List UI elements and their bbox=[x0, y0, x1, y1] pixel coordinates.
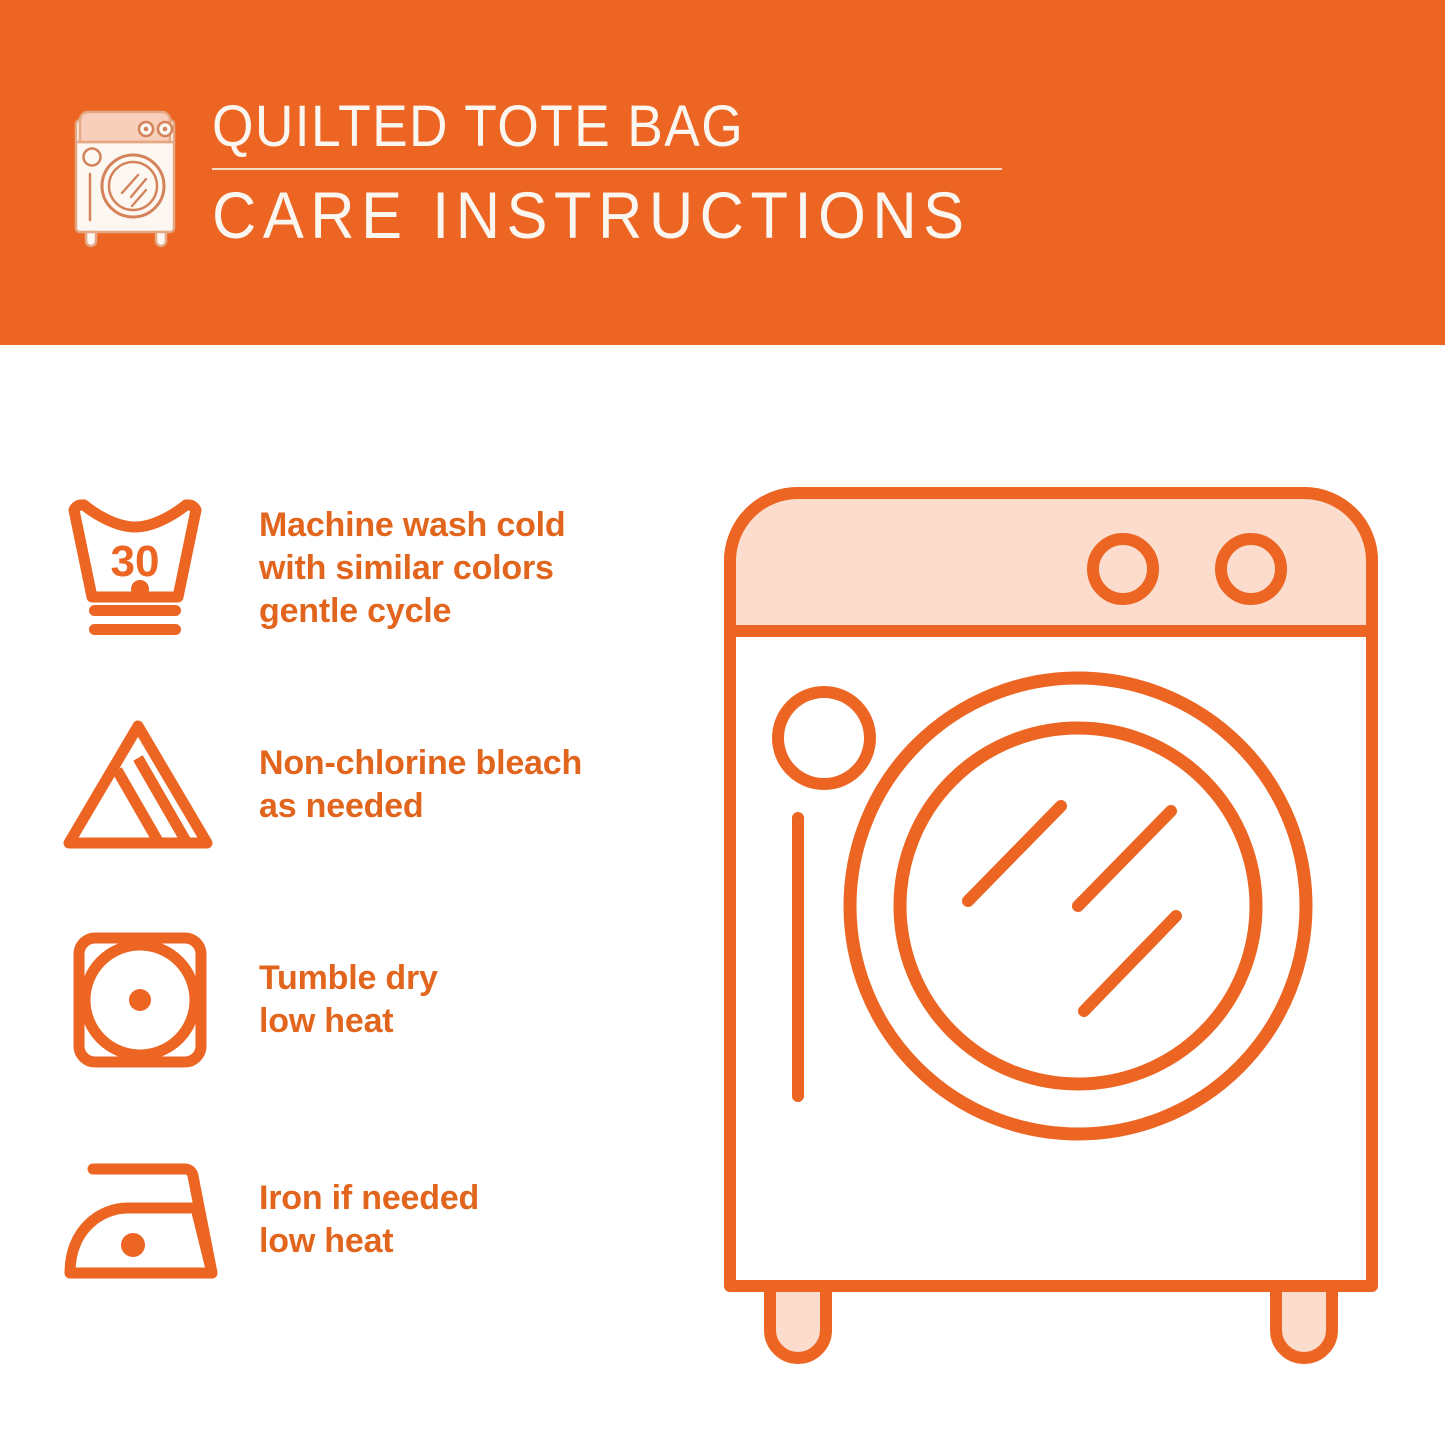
washing-machine-icon bbox=[62, 98, 192, 248]
machine-button bbox=[778, 692, 870, 784]
title-divider bbox=[212, 168, 1002, 170]
tumble-dry-low-icon bbox=[62, 925, 237, 1075]
non-chlorine-bleach-triangle-icon bbox=[62, 710, 237, 860]
wash-tub-30-gentle-icon: 30 bbox=[62, 493, 237, 643]
care-text-machine-wash: Machine wash cold with similar colors ge… bbox=[259, 504, 565, 633]
page-title: QUILTED TOTE BAG bbox=[212, 96, 962, 158]
care-row-bleach: Non-chlorine bleach as needed bbox=[62, 710, 682, 860]
header-band: QUILTED TOTE BAG CARE INSTRUCTIONS bbox=[0, 0, 1445, 345]
iron-low-heat-icon bbox=[62, 1145, 237, 1295]
care-row-machine-wash: 30 Machine wash cold with similar colors… bbox=[62, 493, 682, 643]
machine-leg-left bbox=[770, 1286, 826, 1358]
care-text-tumble-dry: Tumble dry low heat bbox=[259, 957, 438, 1043]
care-instruction-list: 30 Machine wash cold with similar colors… bbox=[0, 345, 700, 1445]
care-instructions-page: QUILTED TOTE BAG CARE INSTRUCTIONS 30 bbox=[0, 0, 1445, 1445]
machine-knob-left bbox=[1093, 539, 1153, 599]
care-row-tumble-dry: Tumble dry low heat bbox=[62, 925, 682, 1075]
care-row-iron: Iron if needed low heat bbox=[62, 1145, 682, 1295]
machine-knob-right bbox=[1221, 539, 1281, 599]
large-washing-machine-illustration bbox=[706, 466, 1396, 1376]
page-subtitle: CARE INSTRUCTIONS bbox=[212, 180, 971, 250]
care-text-iron: Iron if needed low heat bbox=[259, 1177, 479, 1263]
wash-temperature-value: 30 bbox=[111, 537, 160, 586]
care-text-bleach: Non-chlorine bleach as needed bbox=[259, 742, 582, 828]
machine-leg-right bbox=[1276, 1286, 1332, 1358]
header-content: QUILTED TOTE BAG CARE INSTRUCTIONS bbox=[62, 96, 1028, 250]
header-titles: QUILTED TOTE BAG CARE INSTRUCTIONS bbox=[212, 96, 1028, 250]
